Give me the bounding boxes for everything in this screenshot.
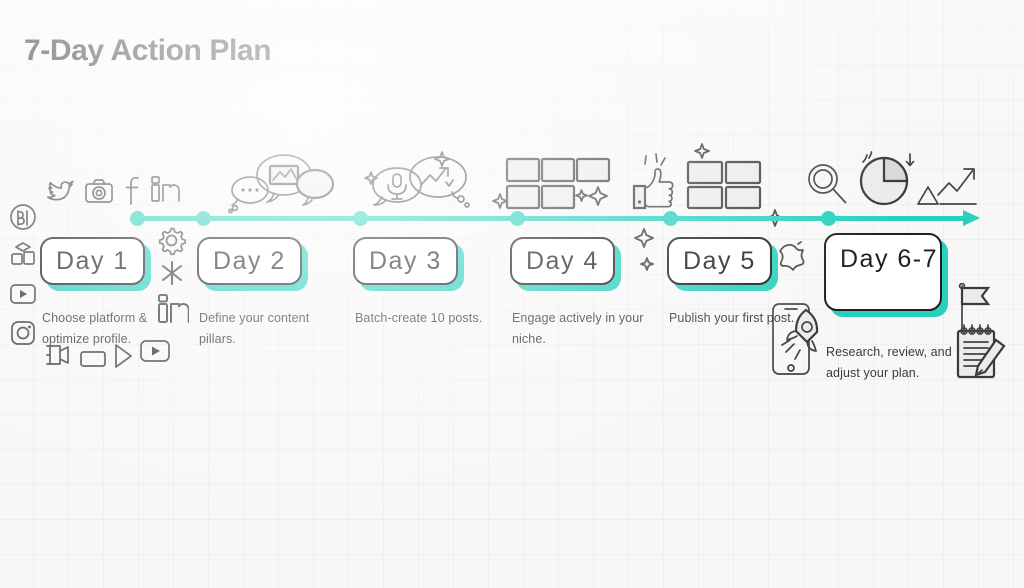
day-caption-3: Batch-create 10 posts. xyxy=(355,308,490,329)
timeline-node-day-3[interactable] xyxy=(353,211,368,226)
facebook-f-icon xyxy=(121,174,145,206)
day-caption-2: Define your content pillars. xyxy=(199,308,344,349)
day-card-6-7[interactable]: Day 6-7 xyxy=(824,233,942,311)
day-card-2-label: Day 2 xyxy=(213,247,286,275)
sparkle-icon xyxy=(640,256,654,272)
play-box-icon xyxy=(8,281,38,307)
page-title: 7-Day Action Plan xyxy=(24,34,271,68)
day-card-3[interactable]: Day 3 xyxy=(353,237,458,285)
day-card-6-7-label: Day 6-7 xyxy=(840,245,938,273)
timeline-node-day-5[interactable] xyxy=(663,211,678,226)
pie-chart-icon xyxy=(855,148,917,210)
sparkle-icon xyxy=(364,170,378,186)
day-card-3-label: Day 3 xyxy=(369,247,442,275)
day-caption-6-7: Research, review, and adjust your plan. xyxy=(826,342,966,383)
sparkle-icon xyxy=(694,142,710,160)
day-card-1[interactable]: Day 1 xyxy=(40,237,145,285)
thumbs-up-icon xyxy=(630,152,686,212)
timeline-arrow-icon xyxy=(963,210,980,226)
magnifier-icon xyxy=(804,160,852,210)
day-card-4-label: Day 4 xyxy=(526,247,599,275)
timeline xyxy=(0,205,1024,233)
sparkle-icon xyxy=(575,188,588,203)
day-card-2[interactable]: Day 2 xyxy=(197,237,302,285)
sparkle-icon xyxy=(588,185,608,207)
timeline-node-day-2[interactable] xyxy=(196,211,211,226)
asterisk-icon xyxy=(156,257,188,289)
day-caption-4: Engage actively in your niche. xyxy=(512,308,652,349)
day-caption-1: Choose platform & optimize profile. xyxy=(42,308,187,349)
day-card-5-label: Day 5 xyxy=(683,247,756,275)
timeline-node-day-6-7[interactable] xyxy=(821,211,836,226)
day-card-1-label: Day 1 xyxy=(56,247,129,275)
day-card-4[interactable]: Day 4 xyxy=(510,237,615,285)
linkedin-in-icon xyxy=(149,175,181,205)
blocks-icon xyxy=(8,241,38,271)
infographic-canvas: 7-Day Action Plan xyxy=(0,0,1024,588)
day-card-5[interactable]: Day 5 xyxy=(667,237,772,285)
timeline-node-day-4[interactable] xyxy=(510,211,525,226)
star-burst-icon xyxy=(776,241,812,277)
instagram-camera-icon xyxy=(82,176,116,206)
grid-four-tiles-icon xyxy=(686,160,764,210)
day-caption-5: Publish your first post. xyxy=(669,308,809,329)
twitter-bird-icon xyxy=(42,176,76,206)
instagram-square-icon xyxy=(8,318,38,348)
sparkle-icon xyxy=(434,150,450,168)
rectangle-icon xyxy=(78,348,108,370)
timeline-node-day-1[interactable] xyxy=(130,211,145,226)
timeline-line xyxy=(130,216,975,221)
